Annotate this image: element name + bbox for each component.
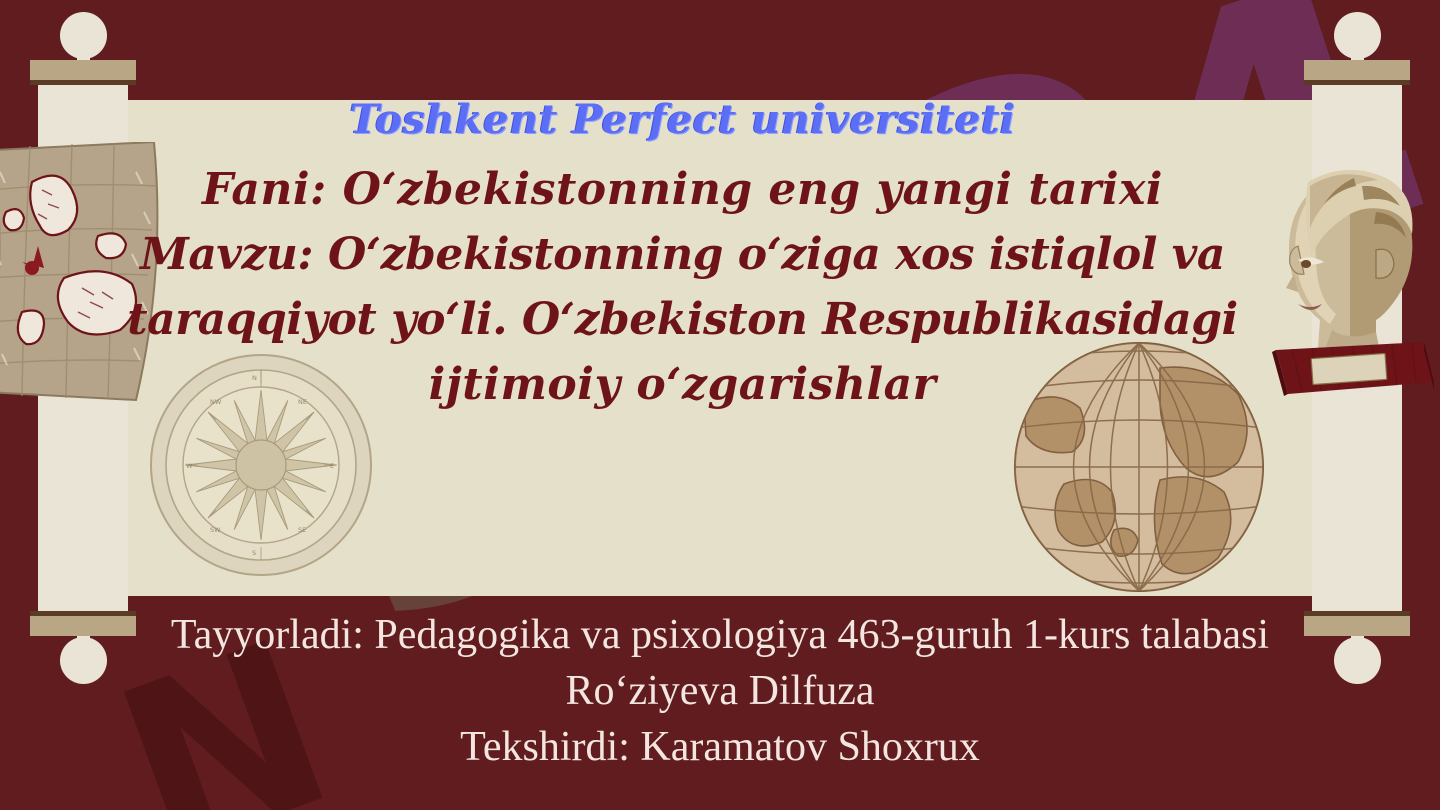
topic-line-3: ijtimoiy oʻzgarishlar <box>90 352 1275 417</box>
topic-line-2: taraqqiyot yoʻli. Oʻzbekiston Respublika… <box>90 287 1275 352</box>
scroll-bar <box>30 60 136 85</box>
subject-line: Fani: Oʻzbekistonning eng yangi tarixi <box>90 157 1275 222</box>
prepared-by-line: Tayyorladi: Pedagogika va psixologiya 46… <box>0 608 1440 664</box>
topic-line-1: Mavzu: Oʻzbekistonning oʻziga xos istiql… <box>90 222 1275 287</box>
student-name-line: Roʻziyeva Dilfuza <box>0 664 1440 720</box>
presentation-slide: 24 SS N <box>0 0 1440 810</box>
slide-text-block: Toshkent Perfect universiteti Fani: Oʻzb… <box>90 96 1275 417</box>
university-title: Toshkent Perfect universiteti <box>90 96 1275 143</box>
scroll-bar <box>1304 60 1410 85</box>
scroll-side-panel-right <box>1312 78 1402 618</box>
checked-by-line: Tekshirdi: Karamatov Shoxrux <box>0 720 1440 776</box>
credits-block: Tayyorladi: Pedagogika va psixologiya 46… <box>0 608 1440 776</box>
